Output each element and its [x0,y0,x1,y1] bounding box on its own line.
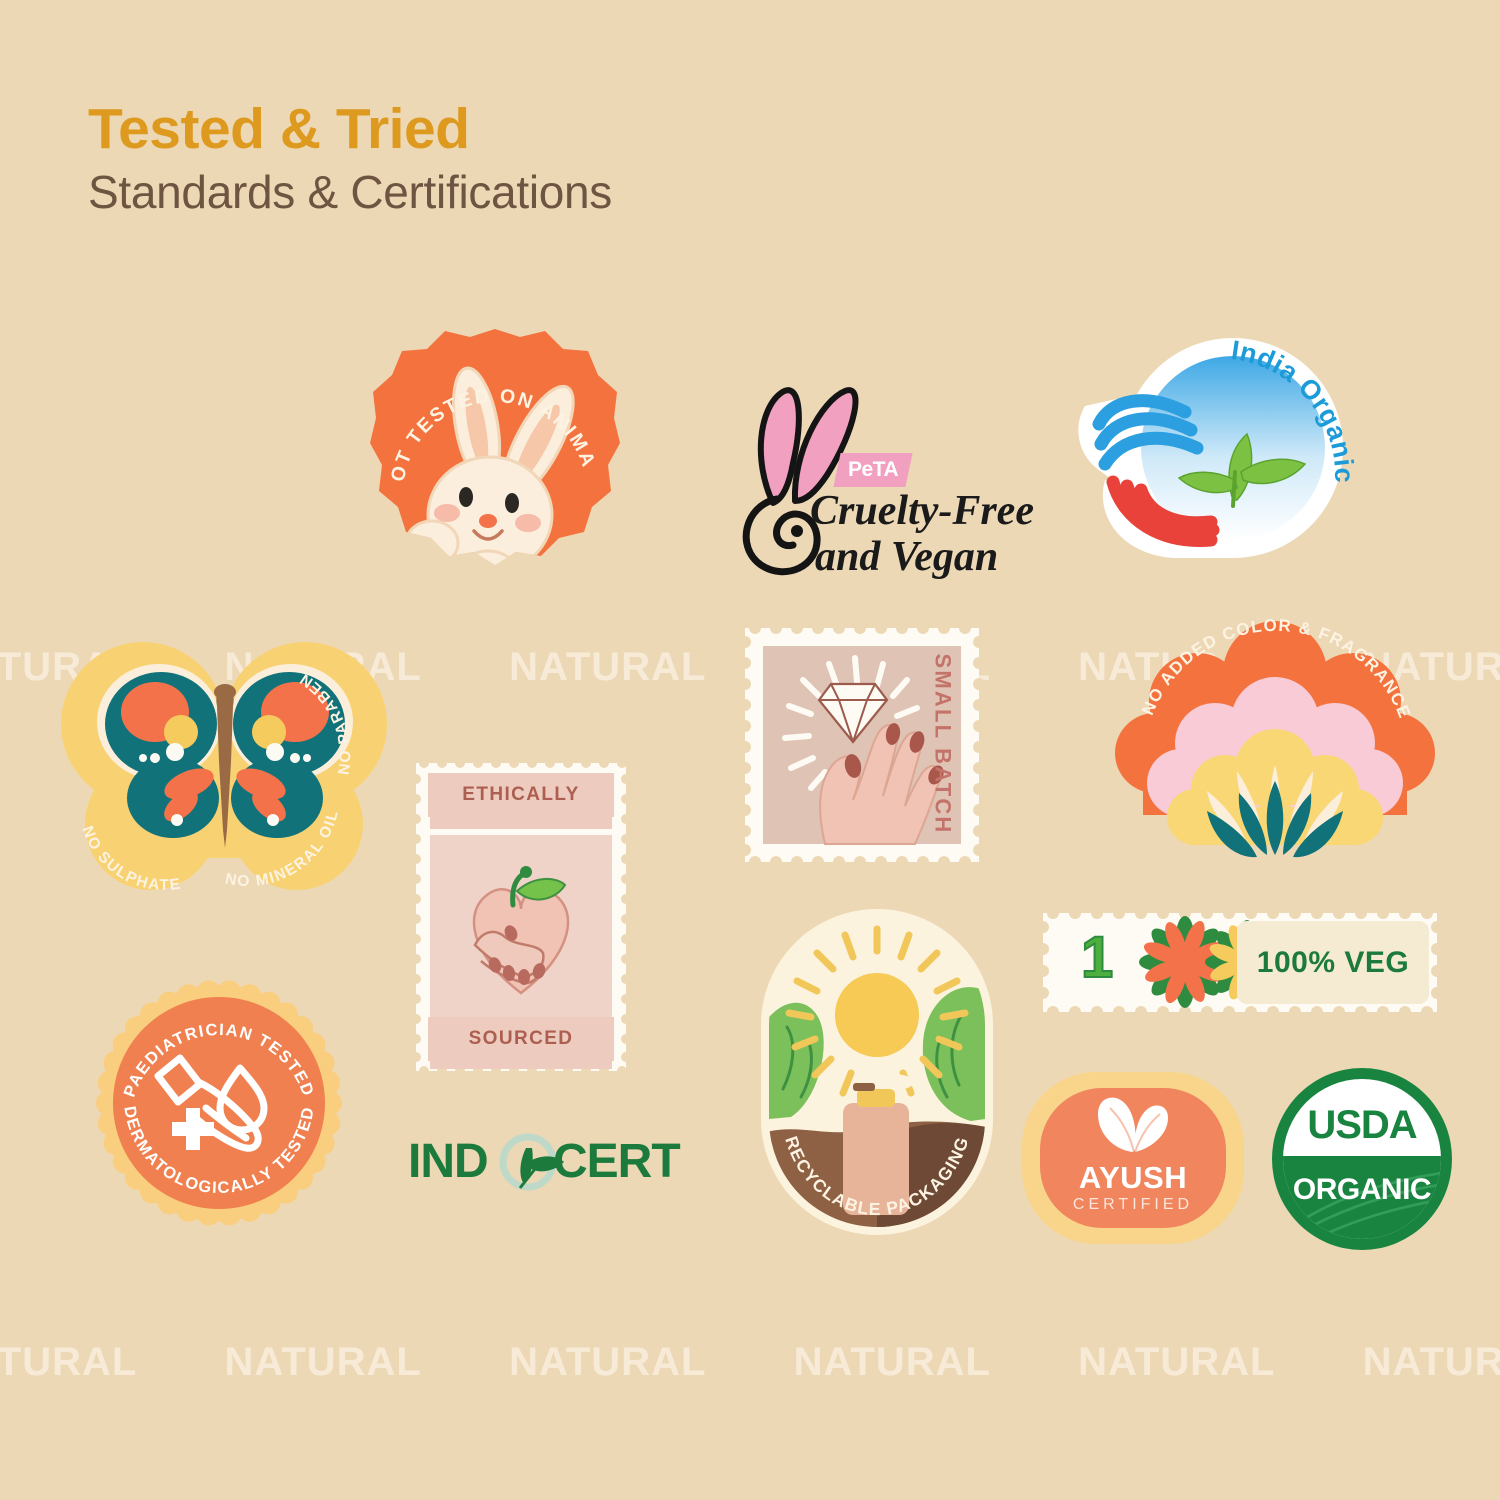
ayush-line-1: AYUSH [1022,1160,1244,1196]
no-added-flower-art: NO ADDED COLOR & FRAGRANCE [1115,617,1435,867]
watermark-text: NATURAL [1363,1340,1500,1385]
badge-free-from-butterfly[interactable]: NO SULPHATE NO MINERAL OIL NO PARABEN [55,612,395,902]
indocert-text-2: CERT [553,1134,680,1189]
watermark-text: NATURAL [0,1340,137,1385]
watermark-text: NATURAL [1078,1340,1275,1385]
small-batch-vertical-label-wrap: SMALL BATCH [923,648,963,840]
watermark-text: NATURAL [794,1340,991,1385]
ayush-leaves-icon [1022,1072,1244,1244]
veg-digit-one: 1 [1081,929,1113,987]
badge-no-added-color-fragrance[interactable]: NO ADDED COLOR & FRAGRANCE [1115,617,1435,867]
butterfly-art: NO SULPHATE NO MINERAL OIL NO PARABEN [55,612,395,902]
watermark-text: NATURAL [225,1340,422,1385]
badge-ethically-sourced[interactable]: ETHICALLY SOURCED [410,757,632,1077]
badge-paediatrician-tested[interactable]: PAEDIATRICIAN TESTED DERMATOLOGICALLY TE… [88,972,350,1234]
india-organic-mark: India Organic [1065,330,1375,595]
ethically-top-label: ETHICALLY [462,784,579,806]
usda-line-1: USDA [1283,1103,1441,1148]
watermark-text: NATURAL [509,645,706,690]
ayush-line-2: CERTIFIED [1022,1196,1244,1214]
small-batch-label: SMALL BATCH [930,653,956,834]
badge-ayush-certified[interactable]: AYUSH CERTIFIED [1022,1072,1244,1244]
usda-line-2: ORGANIC [1283,1173,1441,1207]
page-header: Tested & Tried Standards & Certification… [88,100,612,216]
bunny-badge-art: NOT TESTED ON ANIMALS [370,325,620,580]
ethically-top-band: ETHICALLY [428,773,614,817]
watermark-text: NATURAL [509,1340,706,1385]
badge-india-organic[interactable]: India Organic [1065,330,1375,595]
veg-right-card: 100% VEG [1237,921,1429,1004]
page-title: Tested & Tried [88,100,612,160]
badge-usda-organic[interactable]: USDA ORGANIC [1272,1068,1452,1250]
recyclable-packaging-art: RECYCLABLE PACKAGING [757,907,997,1237]
badge-not-tested-on-animals[interactable]: NOT TESTED ON ANIMALS [370,325,620,580]
peta-tag: PeTA [833,453,912,487]
badge-100-percent-veg[interactable]: 100% VEG 1 [1035,905,1445,1020]
badge-recyclable-packaging[interactable]: RECYCLABLE PACKAGING [757,907,997,1237]
ethically-bottom-band: SOURCED [428,1017,614,1061]
ethically-bottom-label: SOURCED [469,1028,574,1050]
peta-line-2: and Vegan [815,533,998,581]
indocert-text-1: IND [408,1134,488,1189]
page-subtitle: Standards & Certifications [88,168,612,216]
badge-small-batch[interactable]: SMALL BATCH [737,620,987,870]
peta-line-1: Cruelty-Free [810,487,1034,535]
peta-tag-label: PeTA [848,458,898,482]
veg-label: 100% VEG [1257,946,1409,980]
badge-indocert[interactable]: IND CERT [408,1126,653,1198]
badge-peta-cruelty-free[interactable]: PeTA Cruelty-Free and Vegan [715,375,1060,590]
paediatrician-badge-art: PAEDIATRICIAN TESTED DERMATOLOGICALLY TE… [88,972,350,1234]
usda-circle: USDA ORGANIC [1272,1068,1452,1250]
watermark-row-bottom: NATURAL NATURAL NATURAL NATURAL NATURAL … [0,1340,1500,1385]
certifications-board: NATURAL NATURAL NATURAL NATURAL NATURAL … [0,0,1500,1500]
